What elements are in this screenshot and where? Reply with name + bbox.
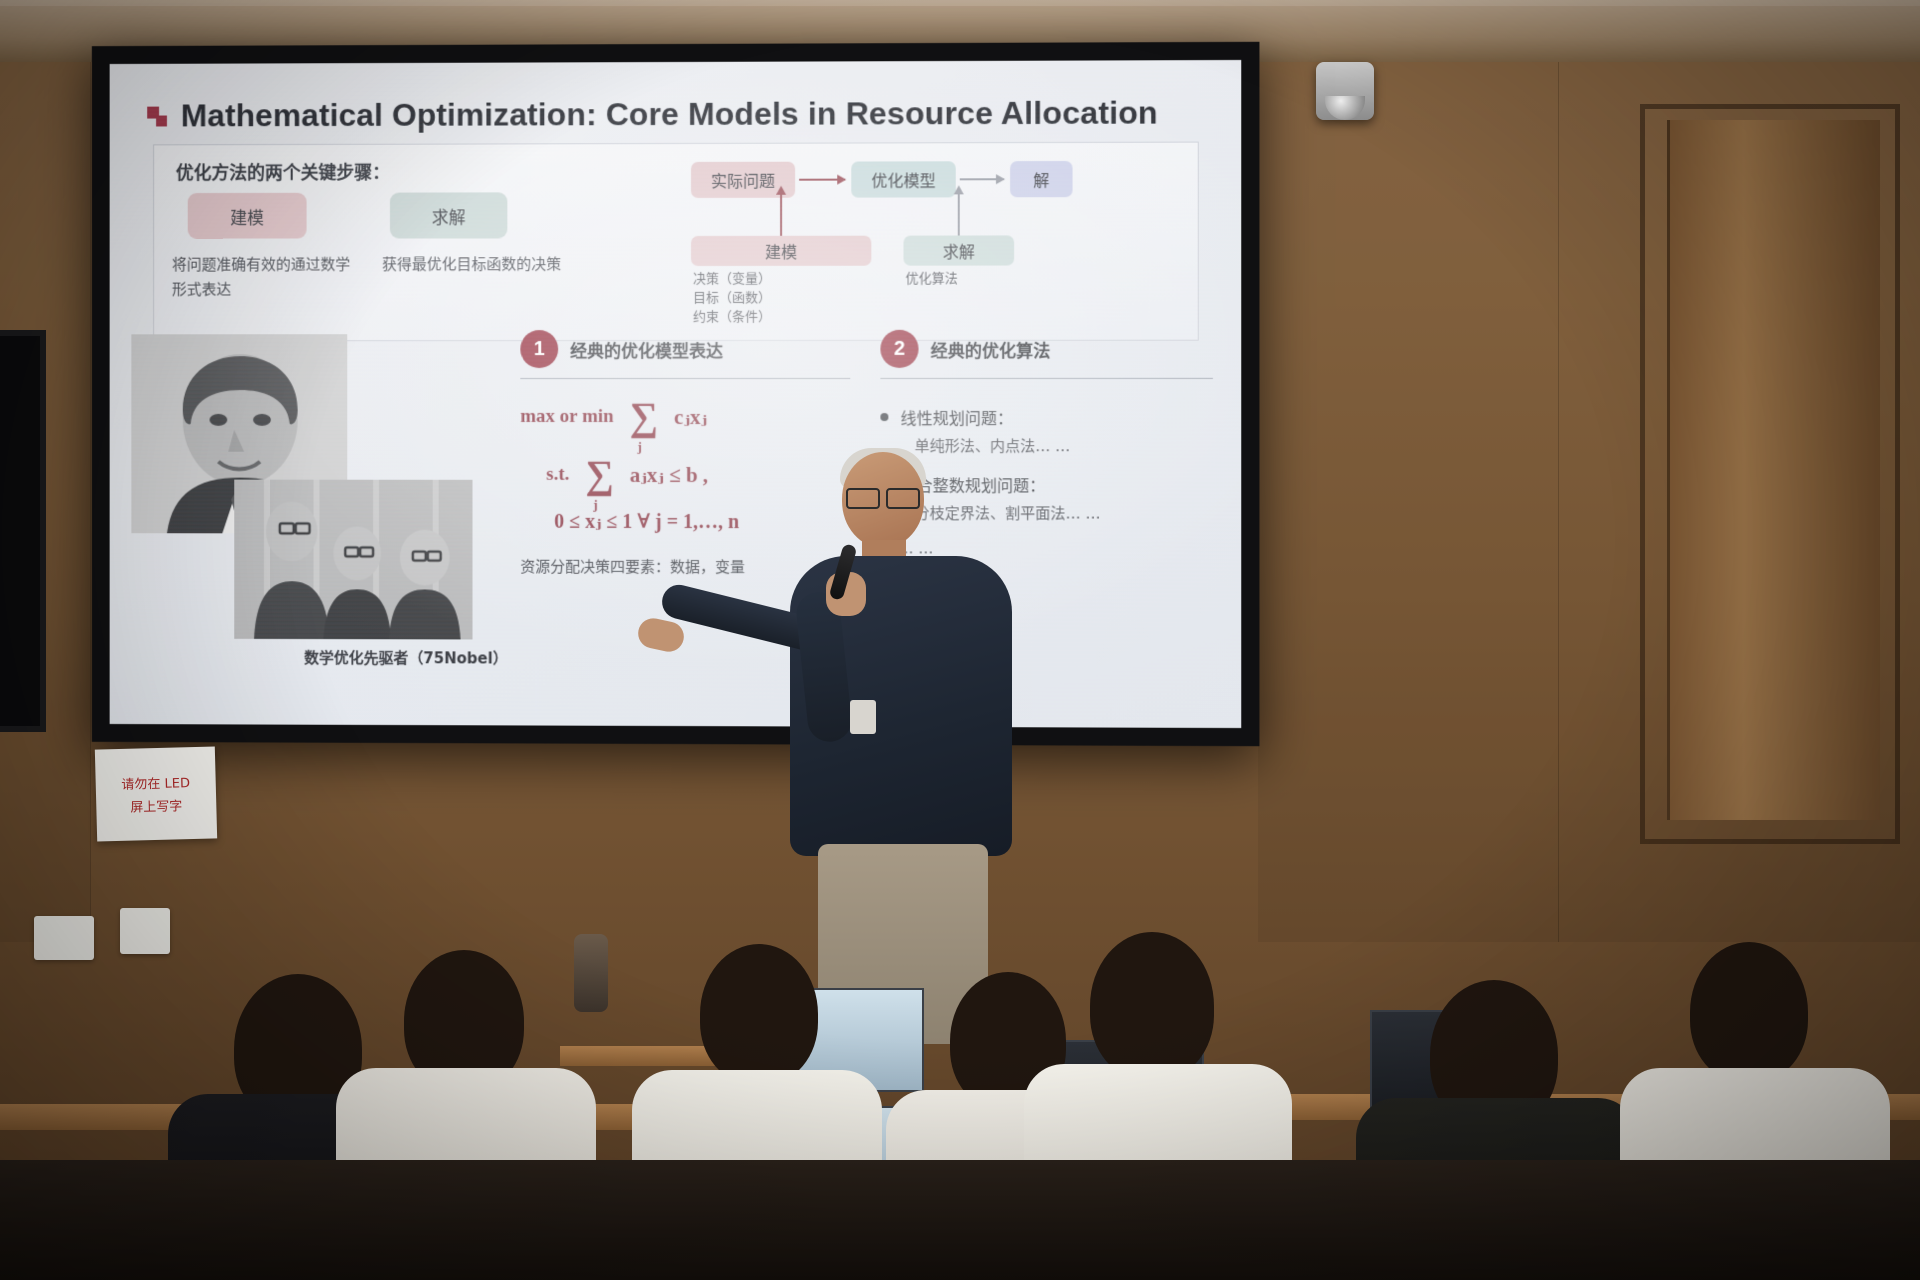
page-title: Mathematical Optimization: Core Models i… [181, 94, 1158, 134]
bullet-dot-icon [880, 413, 888, 421]
water-bottle [574, 934, 608, 1012]
bullet-label: 线性规划问题： [900, 405, 1013, 429]
constraint-lead: s.t. [546, 464, 569, 486]
objective-term: cⱼxⱼ [674, 404, 707, 430]
key-steps-panel: 优化方法的两个关键步骤： 建模 求解 将问题准确有效的通过数学形式表达 获得最优… [153, 142, 1199, 342]
sign-line-1: 请勿在 LED [121, 772, 190, 793]
sigma-index: j [638, 431, 642, 463]
section2-number-badge: 2 [880, 330, 918, 368]
side-display [0, 330, 46, 732]
lecture-hall-photo: Mathematical Optimization: Core Models i… [0, 0, 1920, 1280]
flow-solving-items: 优化算法 [905, 270, 957, 289]
floor [0, 1160, 1920, 1280]
audience-head [1690, 942, 1808, 1082]
sigma-icon-2: ∑j [585, 459, 613, 491]
audience-head [700, 944, 818, 1084]
section1-title: 经典的优化模型表达 [570, 336, 723, 361]
section2-title: 经典的优化算法 [931, 336, 1051, 361]
presenter-badge [850, 700, 876, 734]
section2-header: 2 经典的优化算法 [880, 330, 1213, 368]
flow-diagram: 实际问题 优化模型 解 建模 求解 决策（变量） 目标（函数） 约束（条件） 优… [691, 155, 1239, 331]
flow-arrow-1-icon [799, 179, 845, 181]
flow-node-model: 优化模型 [851, 161, 955, 197]
wall-warning-sign: 请勿在 LED 屏上写字 [95, 746, 217, 841]
audience-head [1090, 932, 1214, 1080]
section2-divider [880, 378, 1213, 379]
audience [0, 860, 1920, 1280]
flow-box-modeling: 建模 [691, 236, 871, 266]
section1-divider [520, 378, 850, 379]
flow-modeling-items: 决策（变量） 目标（函数） 约束（条件） [693, 270, 771, 327]
key-steps-heading: 优化方法的两个关键步骤： [176, 159, 390, 185]
portrait-caption: 数学优化先驱者（75Nobel） [272, 647, 540, 669]
section1-number-badge: 1 [520, 330, 558, 368]
glasses-icon [846, 488, 920, 505]
title-bullet-icon [147, 106, 167, 126]
flow-arrow-2-icon [960, 178, 1004, 180]
constraint-term: aⱼxⱼ ≤ b , [630, 462, 708, 488]
objective-line: max or min ∑j cⱼxⱼ [520, 401, 850, 433]
list-item: 线性规划问题： [880, 405, 1213, 429]
desc-solving: 获得最优化目标函数的决策 [382, 252, 581, 277]
wall-panel [1258, 62, 1559, 942]
pill-solving: 求解 [390, 192, 507, 238]
flow-arrow-solving-icon [958, 189, 960, 237]
objective-lead: max or min [520, 406, 613, 428]
section1-header: 1 经典的优化模型表达 [520, 330, 850, 368]
flow-arrow-modeling-icon [780, 190, 782, 238]
slide-title-row: Mathematical Optimization: Core Models i… [147, 94, 1211, 134]
slide-lower-area: 数学优化先驱者（75Nobel） 1 经典的优化模型表达 max or min … [123, 330, 1227, 722]
sigma-index-2: j [593, 489, 597, 521]
desc-modeling: 将问题准确有效的通过数学形式表达 [172, 252, 360, 302]
nobel-group-photo [234, 480, 472, 640]
flow-node-solution: 解 [1010, 161, 1072, 197]
flow-arrow-solving-tip-icon [954, 185, 964, 194]
pill-modeling: 建模 [188, 193, 307, 239]
flow-arrow-modeling-tip-icon [776, 186, 786, 195]
sigma-icon: ∑j [630, 401, 658, 433]
door [1667, 120, 1880, 820]
flow-box-solving: 求解 [903, 235, 1014, 265]
sign-line-2: 屏上写字 [130, 795, 182, 815]
